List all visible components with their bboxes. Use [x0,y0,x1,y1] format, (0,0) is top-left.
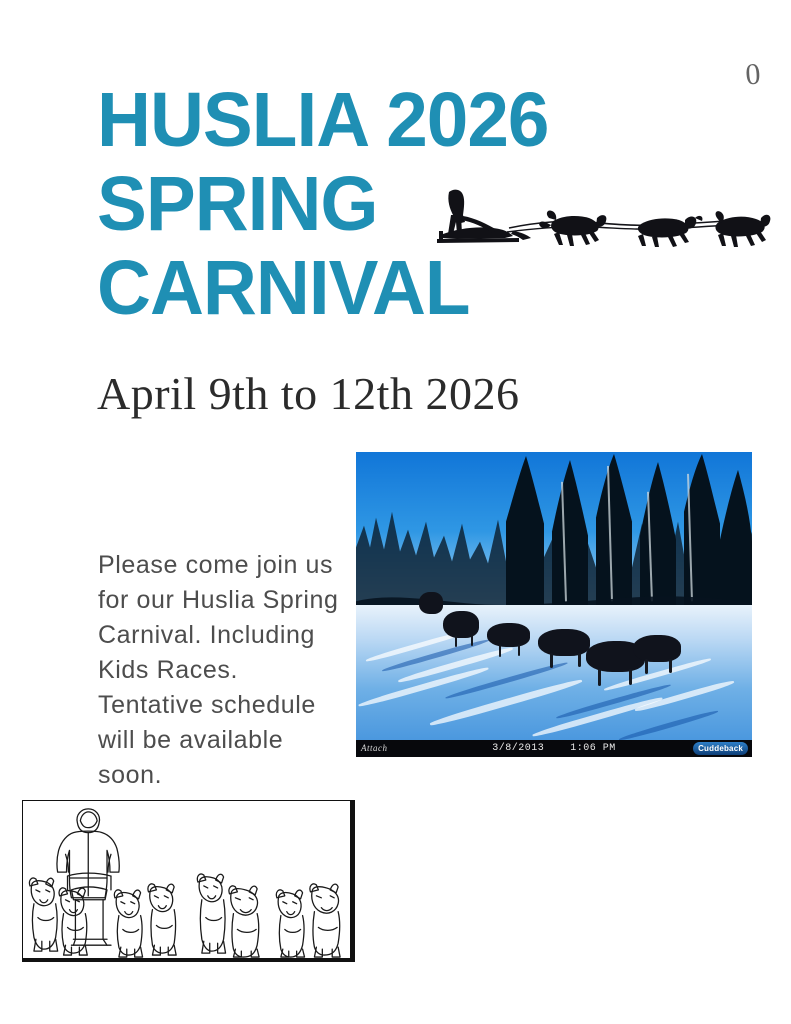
title-line-1: HUSLIA 2026 [97,78,679,162]
photo-snow-trail [356,605,752,758]
lineart-illustration [22,800,355,962]
photo-stamp-date: 3/8/2013 [492,743,544,754]
handwritten-corner-mark: 0 [741,57,765,92]
title-line-3: CARNIVAL [97,246,679,330]
body-paragraph: Please come join us for our Huslia Sprin… [98,548,343,793]
photo-info-bar: Attach 3/8/2013 1:06 PM Cuddeback [356,740,752,757]
camera-brand-logo: Cuddeback [693,742,748,755]
photo-stamp-time: 1:06 PM [570,743,616,754]
trail-camera-photo: Attach 3/8/2013 1:06 PM Cuddeback [356,452,752,757]
flyer-page: 0 HUSLIA 2026 SPRING CARNIVAL [0,0,791,1024]
dogsled-silhouette-icon [427,182,772,252]
event-dates: April 9th to 12th 2026 [97,368,519,420]
